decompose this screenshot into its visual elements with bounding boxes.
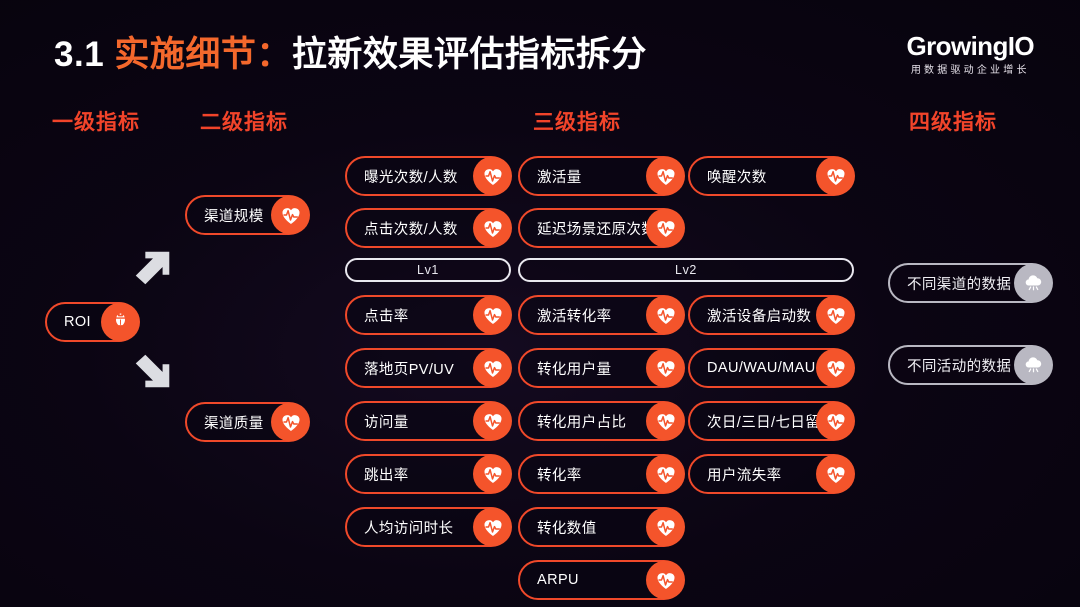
heart-pulse-icon: [473, 508, 512, 547]
pill-channel-scale[interactable]: 渠道规模: [185, 195, 309, 235]
pill-l3c1-4[interactable]: 访问量: [345, 401, 511, 441]
heart-pulse-icon: [646, 157, 685, 196]
heart-pulse-icon: [646, 209, 685, 248]
pill-l3c2-3[interactable]: 转化用户量: [518, 348, 684, 388]
pill-l3c1-3-label: 落地页PV/UV: [347, 358, 454, 379]
slide-canvas: 3.1 实施细节：拉新效果评估指标拆分 GrowingIO 用数据驱动企业增长 …: [0, 0, 1080, 607]
pill-l3c2-4[interactable]: 转化用户占比: [518, 401, 684, 441]
level-bar-lv1[interactable]: Lv1: [345, 258, 511, 282]
pill-l4-1[interactable]: 不同活动的数据: [888, 345, 1052, 385]
column-header-level4: 四级指标: [909, 106, 997, 136]
column-header-level3: 三级指标: [533, 106, 621, 136]
pill-l3c1-5-label: 跳出率: [347, 464, 409, 485]
heart-pulse-icon: [816, 455, 855, 494]
pill-l3c1-0-label: 曝光次数/人数: [347, 166, 458, 187]
pill-l3c3-2-label: DAU/WAU/MAU: [690, 360, 816, 376]
heart-pulse-icon: [816, 349, 855, 388]
pill-l3c3-4[interactable]: 用户流失率: [688, 454, 854, 494]
pill-l3c2-0[interactable]: 激活量: [518, 156, 684, 196]
heart-pulse-icon: [646, 561, 685, 600]
pill-channel-quality-label: 渠道质量: [187, 412, 264, 433]
pill-l3c1-2-label: 点击率: [347, 305, 409, 326]
pill-l3c2-2[interactable]: 激活转化率: [518, 295, 684, 335]
pill-l3c2-7[interactable]: ARPU: [518, 560, 684, 600]
pill-l3c1-5[interactable]: 跳出率: [345, 454, 511, 494]
heart-pulse-icon: [473, 209, 512, 248]
pill-roi[interactable]: ROI: [45, 302, 139, 342]
pill-l3c3-4-label: 用户流失率: [690, 464, 782, 485]
pill-l3c2-1[interactable]: 延迟场景还原次数: [518, 208, 684, 248]
pill-roi-label: ROI: [47, 314, 91, 330]
pill-l3c1-3[interactable]: 落地页PV/UV: [345, 348, 511, 388]
pill-l3c2-6[interactable]: 转化数值: [518, 507, 684, 547]
pill-l3c1-1[interactable]: 点击次数/人数: [345, 208, 511, 248]
pill-l3c1-6[interactable]: 人均访问时长: [345, 507, 511, 547]
logo-wordmark: GrowingIO: [907, 33, 1034, 59]
chess-king-icon: [101, 303, 140, 342]
pill-l3c1-6-label: 人均访问时长: [347, 517, 453, 538]
arrow-up-right-icon: [130, 245, 176, 291]
pill-channel-quality[interactable]: 渠道质量: [185, 402, 309, 442]
heart-pulse-icon: [271, 196, 310, 235]
cloud-data-icon: [1014, 346, 1053, 385]
title-rest: 拉新效果评估指标拆分: [292, 35, 647, 74]
pill-l3c3-1-label: 激活设备启动数: [690, 305, 811, 326]
heart-pulse-icon: [646, 508, 685, 547]
brand-logo: GrowingIO 用数据驱动企业增长: [907, 33, 1034, 76]
pill-l3c2-7-label: ARPU: [520, 572, 579, 588]
heart-pulse-icon: [473, 157, 512, 196]
pill-l3c2-2-label: 激活转化率: [520, 305, 612, 326]
pill-l3c3-1[interactable]: 激活设备启动数: [688, 295, 854, 335]
pill-l3c2-3-label: 转化用户量: [520, 358, 612, 379]
pill-l3c3-3[interactable]: 次日/三日/七日留存: [688, 401, 854, 441]
column-header-level2: 二级指标: [200, 106, 288, 136]
pill-l3c2-6-label: 转化数值: [520, 517, 597, 538]
heart-pulse-icon: [473, 455, 512, 494]
pill-channel-scale-label: 渠道规模: [187, 205, 264, 226]
title-highlight: 实施细节：: [114, 35, 292, 74]
logo-tagline: 用数据驱动企业增长: [907, 66, 1034, 76]
pill-l3c3-3-label: 次日/三日/七日留存: [690, 411, 835, 432]
heart-pulse-icon: [646, 402, 685, 441]
heart-pulse-icon: [271, 403, 310, 442]
heart-pulse-icon: [816, 402, 855, 441]
arrow-down-right-icon: [130, 348, 176, 394]
level-bar-lv2[interactable]: Lv2: [518, 258, 854, 282]
page-title: 3.1 实施细节：拉新效果评估指标拆分: [54, 26, 647, 77]
title-number: 3.1: [54, 35, 104, 74]
pill-l3c3-0-label: 唤醒次数: [690, 166, 767, 187]
pill-l3c1-0[interactable]: 曝光次数/人数: [345, 156, 511, 196]
heart-pulse-icon: [473, 402, 512, 441]
pill-l3c3-2[interactable]: DAU/WAU/MAU: [688, 348, 854, 388]
pill-l3c2-5[interactable]: 转化率: [518, 454, 684, 494]
pill-l3c2-0-label: 激活量: [520, 166, 582, 187]
heart-pulse-icon: [473, 296, 512, 335]
pill-l3c1-2[interactable]: 点击率: [345, 295, 511, 335]
pill-l3c2-4-label: 转化用户占比: [520, 411, 626, 432]
pill-l3c3-0[interactable]: 唤醒次数: [688, 156, 854, 196]
pill-l4-1-label: 不同活动的数据: [890, 355, 1011, 376]
pill-l3c1-1-label: 点击次数/人数: [347, 218, 458, 239]
heart-pulse-icon: [646, 455, 685, 494]
cloud-data-icon: [1014, 264, 1053, 303]
heart-pulse-icon: [816, 296, 855, 335]
pill-l3c2-5-label: 转化率: [520, 464, 582, 485]
heart-pulse-icon: [816, 157, 855, 196]
pill-l3c2-1-label: 延迟场景还原次数: [520, 218, 656, 239]
column-header-level1: 一级指标: [52, 106, 140, 136]
heart-pulse-icon: [473, 349, 512, 388]
pill-l4-0-label: 不同渠道的数据: [890, 273, 1011, 294]
pill-l3c1-4-label: 访问量: [347, 411, 409, 432]
heart-pulse-icon: [646, 296, 685, 335]
heart-pulse-icon: [646, 349, 685, 388]
pill-l4-0[interactable]: 不同渠道的数据: [888, 263, 1052, 303]
